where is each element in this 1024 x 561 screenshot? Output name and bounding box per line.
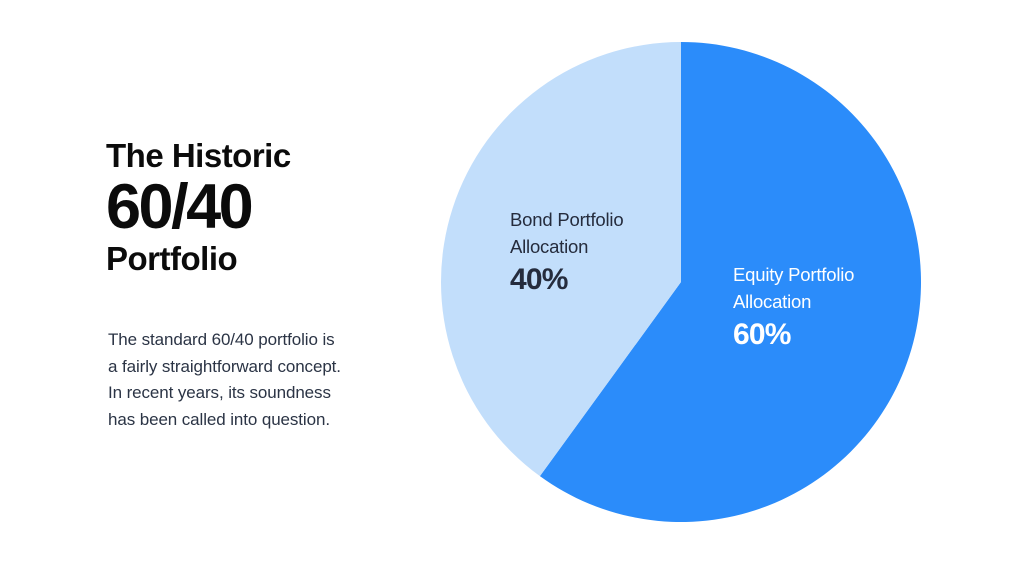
pie-label-equity: Equity Portfolio Allocation 60%: [733, 261, 854, 354]
pie-label-equity-value: 60%: [733, 316, 854, 354]
description-paragraph: The standard 60/40 portfolio is a fairly…: [108, 327, 408, 433]
description-line: The standard 60/40 portfolio is: [108, 327, 408, 354]
headline-line-3: Portfolio: [106, 240, 406, 278]
pie-label-equity-line1: Equity Portfolio: [733, 261, 854, 288]
headline-line-1: The Historic: [106, 138, 406, 174]
pie-label-bond-line2: Allocation: [510, 233, 623, 260]
description-line: has been called into question.: [108, 407, 408, 434]
headline-block: The Historic 60/40 Portfolio: [106, 138, 406, 278]
pie-label-bond-value: 40%: [510, 261, 623, 299]
pie-label-equity-line2: Allocation: [733, 288, 854, 315]
description-line: a fairly straightforward concept.: [108, 354, 408, 381]
pie-label-bond: Bond Portfolio Allocation 40%: [510, 206, 623, 299]
headline-line-2-ratio: 60/40: [106, 174, 406, 240]
pie-label-bond-line1: Bond Portfolio: [510, 206, 623, 233]
description-line: In recent years, its soundness: [108, 380, 408, 407]
